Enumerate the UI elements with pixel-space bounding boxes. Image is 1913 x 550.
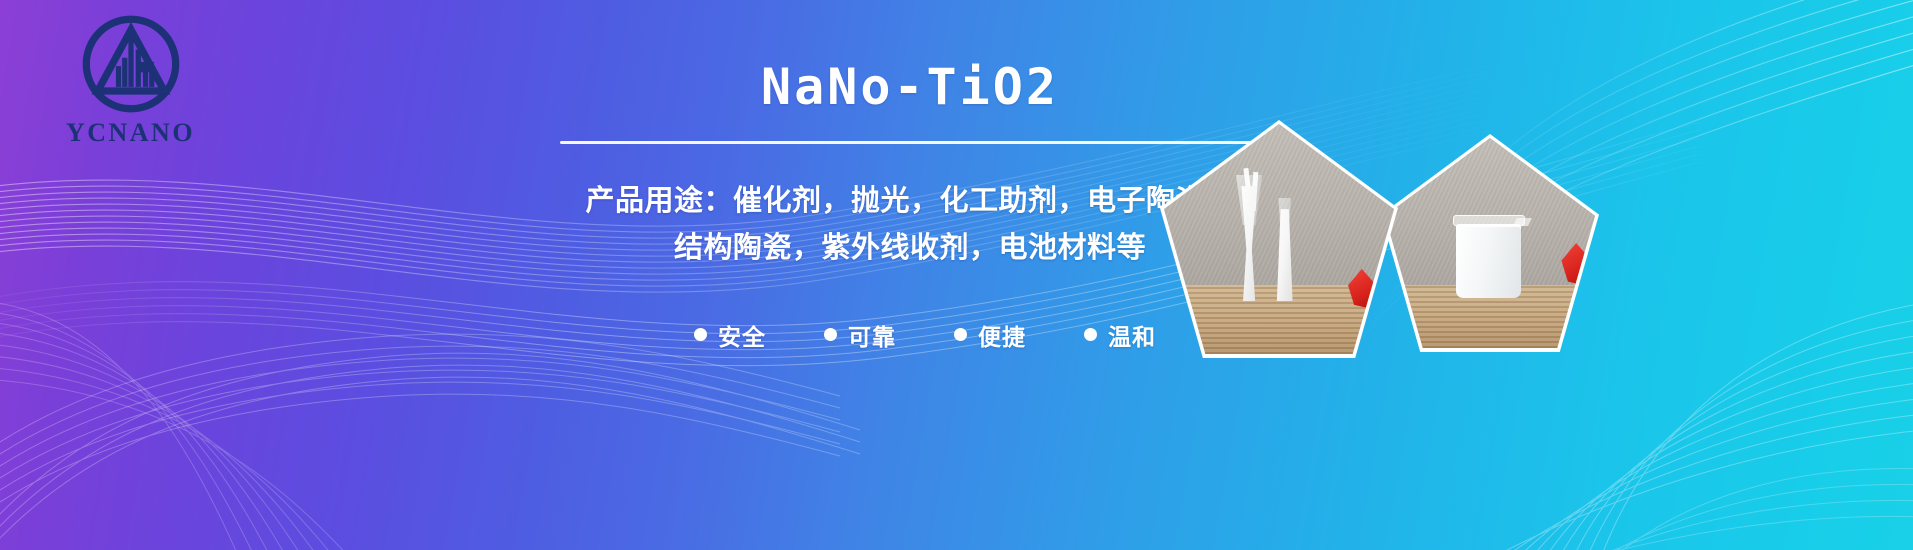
feature-item-convenient: 便捷 xyxy=(954,318,1026,352)
product-photo-beaker xyxy=(1381,134,1599,352)
brand-logo: YCNANO xyxy=(38,12,223,160)
photo-table xyxy=(1385,285,1595,348)
product-description: 产品用途：催化剂，抛光，化工助剂，电子陶瓷， 结构陶瓷，紫外线收剂，电池材料等 xyxy=(480,178,1340,272)
product-photo-beaker-image xyxy=(1385,138,1595,348)
description-line-2: 结构陶瓷，紫外线收剂，电池材料等 xyxy=(480,225,1340,272)
red-leaf-icon xyxy=(1348,269,1376,308)
feature-item-mild: 温和 xyxy=(1084,318,1156,352)
feature-label: 温和 xyxy=(1108,318,1156,352)
beaker-spout xyxy=(1513,218,1532,226)
title-divider xyxy=(560,141,1260,144)
feature-list: 安全 可靠 便捷 温和 xyxy=(480,318,1340,352)
brand-wordmark: YCNANO xyxy=(66,118,195,148)
photo-wall xyxy=(1385,138,1595,285)
bullet-dot-icon xyxy=(954,328,967,341)
beaker-rim xyxy=(1453,215,1526,226)
red-leaf-icon xyxy=(1561,243,1590,285)
bullet-dot-icon xyxy=(1084,328,1097,341)
banner-content: NaNo-TiO2 产品用途：催化剂，抛光，化工助剂，电子陶瓷， 结构陶瓷，紫外… xyxy=(480,60,1340,352)
feature-label: 安全 xyxy=(718,318,766,352)
feature-label: 可靠 xyxy=(848,318,896,352)
product-title: NaNo-TiO2 xyxy=(480,60,1340,115)
product-banner: YCNANO NaNo-TiO2 产品用途：催化剂，抛光，化工助剂，电子陶瓷， … xyxy=(0,0,1913,550)
photo-scene xyxy=(1385,138,1595,348)
beaker-icon xyxy=(1456,224,1521,298)
feature-item-safe: 安全 xyxy=(694,318,766,352)
description-line-1: 产品用途：催化剂，抛光，化工助剂，电子陶瓷， xyxy=(480,178,1340,225)
ycnano-triangle-circle-logo-icon xyxy=(79,12,183,116)
photo-table-edge xyxy=(1385,285,1595,287)
feature-item-reliable: 可靠 xyxy=(824,318,896,352)
feature-label: 便捷 xyxy=(978,318,1026,352)
bullet-dot-icon xyxy=(694,328,707,341)
bullet-dot-icon xyxy=(824,328,837,341)
